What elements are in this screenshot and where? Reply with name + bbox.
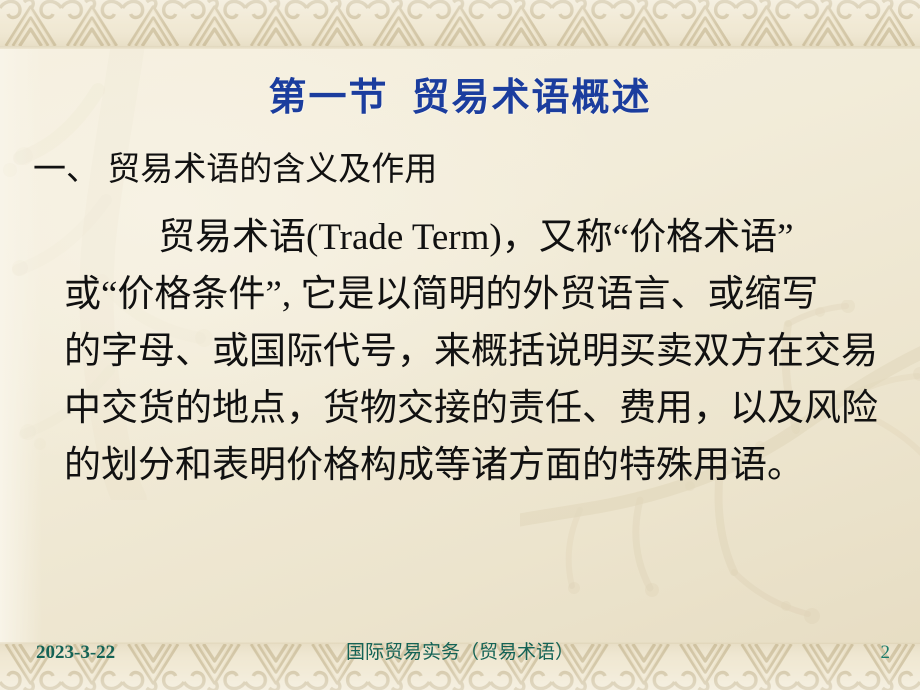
slide-footer: 2023-3-22 国际贸易实务（贸易术语） 2 [0, 634, 920, 690]
paragraph-line: 的字母、或国际代号，来概括说明买卖双方在交易 [64, 323, 886, 380]
body-paragraph: 贸易术语(Trade Term)，又称“价格术语” 或“价格条件”, 它是以简明… [0, 209, 920, 494]
page-title: 第一节 贸易术语概述 [0, 66, 920, 121]
slide-body: 一、 贸易术语的含义及作用 贸易术语(Trade Term)，又称“价格术语” … [0, 150, 920, 494]
slide-number: 2 [881, 642, 891, 664]
paragraph-line: 贸易术语(Trade Term)，又称“价格术语” [64, 209, 886, 266]
top-border-rule [0, 46, 920, 49]
celtic-knot-pattern-row [0, 0, 920, 46]
paragraph-line: 或“价格条件”, 它是以简明的外贸语言、或缩写 [64, 266, 886, 323]
paragraph-line: 中交货的地点，货物交接的责任、费用，以及风险 [64, 380, 886, 437]
presentation-slide: 第一节 贸易术语概述 一、 贸易术语的含义及作用 贸易术语(Trade Term… [0, 0, 920, 690]
section-heading: 一、 贸易术语的含义及作用 [0, 150, 920, 191]
paragraph-line: 的划分和表明价格构成等诸方面的特殊用语。 [64, 437, 886, 494]
top-decorative-border [0, 0, 920, 46]
footer-title: 国际贸易实务（贸易术语） [0, 637, 920, 664]
celtic-triangle-knot-icon [0, 0, 920, 46]
